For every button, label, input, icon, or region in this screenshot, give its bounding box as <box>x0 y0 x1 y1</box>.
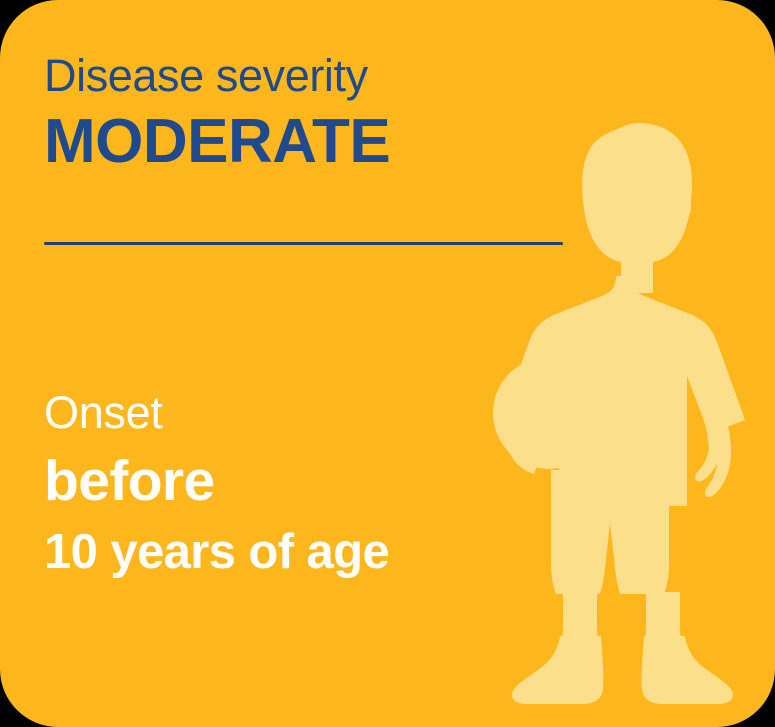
disease-severity-card: Disease severity MODERATE Onset before 1… <box>0 0 775 727</box>
disease-severity-value: MODERATE <box>44 107 574 176</box>
onset-secondary-text: 10 years of age <box>44 524 564 582</box>
onset-block: Onset before 10 years of age <box>44 388 564 581</box>
card-text-content: Disease severity MODERATE Onset before 1… <box>44 0 604 727</box>
disease-severity-label: Disease severity <box>44 52 574 101</box>
onset-primary-text: before <box>44 448 564 515</box>
onset-label: Onset <box>44 388 564 438</box>
disease-severity-block: Disease severity MODERATE <box>44 52 574 176</box>
section-divider <box>44 242 563 245</box>
